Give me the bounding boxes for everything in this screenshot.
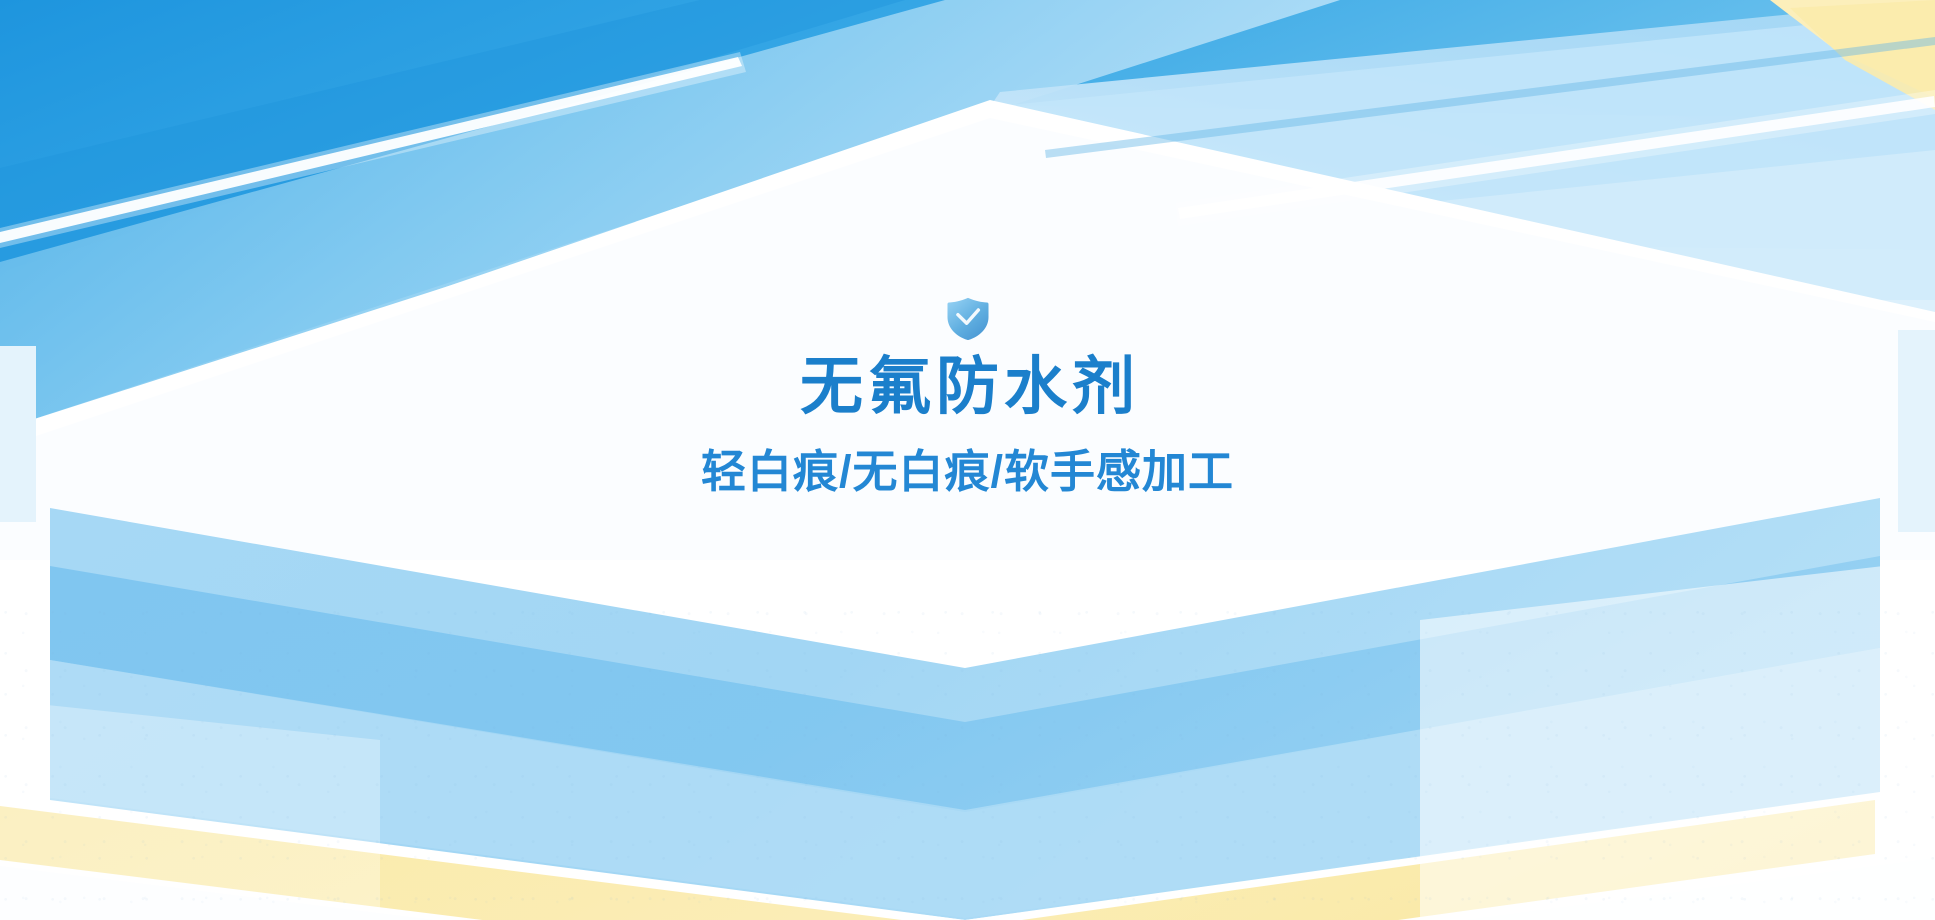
- bg-left-edge-band: [0, 346, 36, 522]
- bg-bottom-right-veil: [1420, 560, 1935, 920]
- background-artwork: [0, 0, 1935, 920]
- bg-right-edge-band: [1898, 330, 1935, 532]
- product-banner: 无氟防水剂 轻白痕/无白痕/软手感加工: [0, 0, 1935, 920]
